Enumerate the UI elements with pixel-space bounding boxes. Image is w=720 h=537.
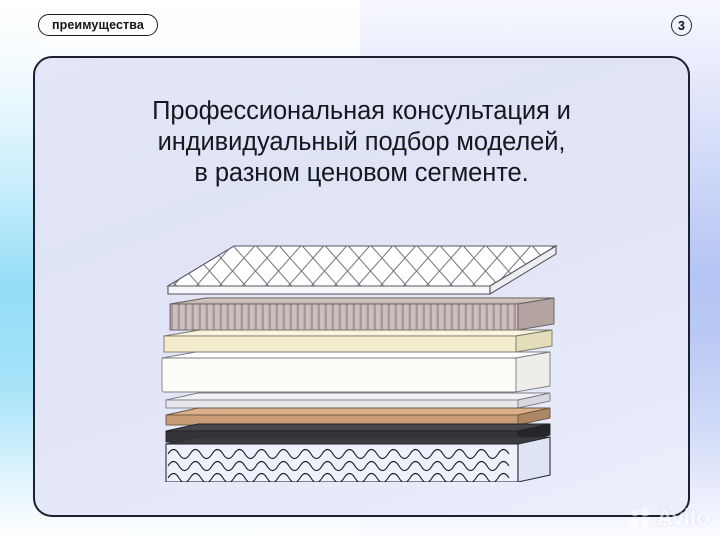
- spring-block-layer: [166, 437, 550, 482]
- heading-line-3: в разном ценовом сегменте.: [35, 158, 688, 189]
- page-title: Профессиональная консультация и индивиду…: [35, 96, 688, 189]
- quilted-cover-layer: [168, 246, 556, 294]
- cream-foam-layer: [164, 330, 552, 352]
- heading-line-2: индивидуальный подбор моделей,: [35, 127, 688, 158]
- category-badge[interactable]: преимущества: [38, 14, 158, 36]
- page-number-indicator: 3: [671, 15, 692, 36]
- content-card: Профессиональная консультация и индивиду…: [33, 56, 690, 517]
- coir-layer: [166, 408, 550, 425]
- ribbed-foam-layer: [170, 298, 554, 330]
- light-grey-felt-layer: [166, 393, 550, 408]
- heading-line-1: Профессиональная консультация и: [35, 96, 688, 127]
- slide-page: преимущества 3 Профессиональная консульт…: [0, 0, 720, 537]
- white-foam-layer: [162, 352, 550, 392]
- mattress-cross-section-illustration: [152, 232, 572, 482]
